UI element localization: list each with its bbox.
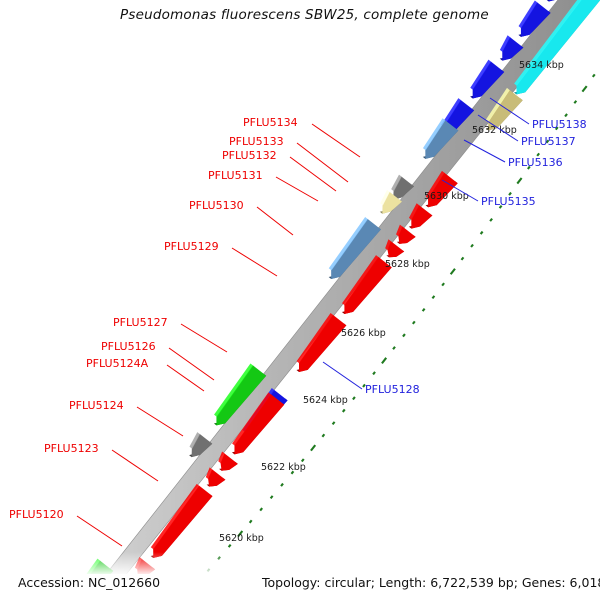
genome-map-canvas[interactable]: 5634 kbp5632 kbp5630 kbp5628 kbp5626 kbp… <box>0 0 600 600</box>
gene-label[interactable]: PFLU5132 <box>222 149 277 162</box>
gene-label[interactable]: PFLU5134 <box>243 116 298 129</box>
gene-label[interactable]: PFLU5126 <box>101 340 156 353</box>
accession-label: Accession: NC_012660 <box>18 575 160 590</box>
scale-label: 5620 kbp <box>219 533 264 544</box>
gene-label[interactable]: PFLU5127 <box>113 316 168 329</box>
scale-label: 5626 kbp <box>341 328 386 339</box>
gene-label[interactable]: PFLU5136 <box>508 156 563 169</box>
scale-label: 5628 kbp <box>385 259 430 270</box>
page-title: Pseudomonas fluorescens SBW25, complete … <box>120 7 489 23</box>
scale-label: 5634 kbp <box>519 60 564 71</box>
gene-label[interactable]: PFLU5137 <box>521 135 576 148</box>
gene-label[interactable]: PFLU5131 <box>208 169 263 182</box>
gene-label[interactable]: PFLU5138 <box>532 118 587 131</box>
scale-label: 5630 kbp <box>424 191 469 202</box>
gene-label[interactable]: PFLU5124 <box>69 399 124 412</box>
gene-label[interactable]: PFLU5123 <box>44 442 99 455</box>
scale-label: 5624 kbp <box>303 395 348 406</box>
gene-label[interactable]: PFLU5135 <box>481 195 536 208</box>
gene-label[interactable]: PFLU5124A <box>86 357 149 370</box>
gene-label[interactable]: PFLU5128 <box>365 383 420 396</box>
genome-stats-label: Topology: circular; Length: 6,722,539 bp… <box>261 575 600 590</box>
gene-label[interactable]: PFLU5130 <box>189 199 244 212</box>
gene-label[interactable]: PFLU5129 <box>164 240 219 253</box>
genome-viewer: 5634 kbp5632 kbp5630 kbp5628 kbp5626 kbp… <box>0 0 600 600</box>
scale-label: 5632 kbp <box>472 125 517 136</box>
bottom-fade <box>0 552 600 576</box>
scale-label: 5622 kbp <box>261 462 306 473</box>
gene-label[interactable]: PFLU5120 <box>9 508 64 521</box>
gene-label[interactable]: PFLU5133 <box>229 135 284 148</box>
